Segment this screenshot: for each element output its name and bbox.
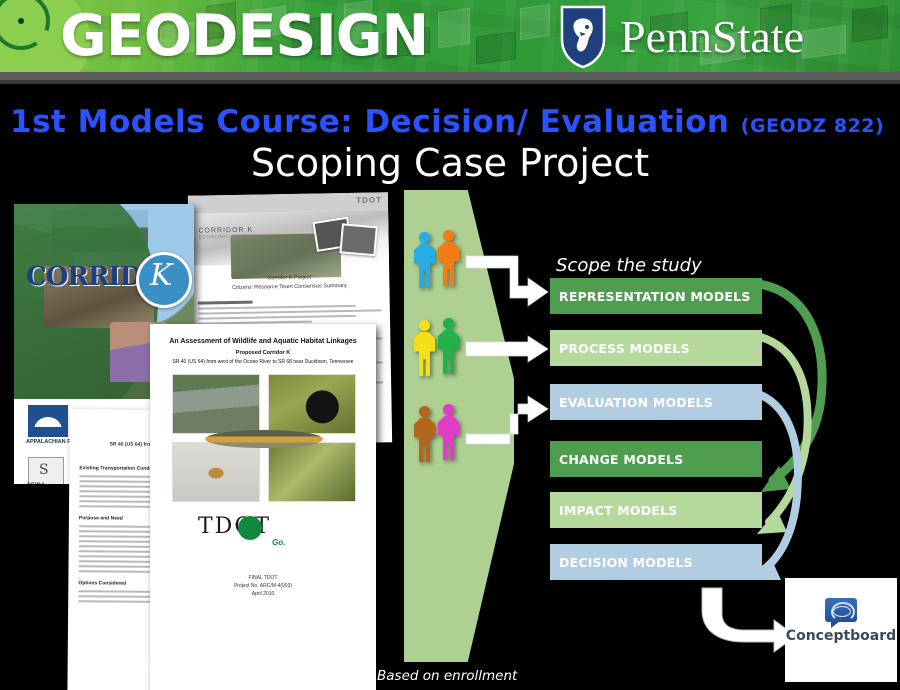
model-bar-representation-label: REPRESENTATION MODELS: [550, 289, 751, 304]
black-bear-photo: [268, 374, 356, 434]
model-bar-impact[interactable]: IMPACT MODELS: [550, 492, 762, 528]
photo-thumbnail-icon: [339, 223, 377, 256]
geodesign-wordmark: GEODESIGN: [60, 2, 428, 70]
model-bar-representation[interactable]: REPRESENTATION MODELS: [550, 278, 762, 314]
header-banner: GEODESIGN PennState: [0, 0, 900, 72]
participant-group-1: [414, 232, 472, 292]
participant-group-3: [414, 404, 472, 464]
document-wildlife-assessment[interactable]: An Assessment of Wildlife and Aquatic Ha…: [150, 324, 376, 690]
doc-wildlife-footer-line3: April 2010: [150, 590, 376, 598]
person-icon-blue: [414, 232, 435, 288]
model-bar-process[interactable]: PROCESS MODELS: [550, 330, 762, 366]
document-stack: TDOT CORRIDOR K ECONOMIC SECTION Corrido…: [0, 186, 400, 656]
person-icon-green: [438, 318, 459, 374]
caption-based-on-enrollment: Based on enrollment: [377, 668, 517, 684]
tdot-logo-tagline: Go.: [272, 538, 285, 547]
connector-arrow-group1-to-representation: [466, 250, 556, 310]
penn-state-logo: PennState: [560, 2, 804, 72]
feedback-arrow-group: [735, 270, 845, 590]
seida-logo-label: SEIDA: [27, 483, 45, 484]
person-icon-brown: [414, 406, 435, 462]
page-title-line2: Scoping Case Project: [0, 140, 900, 186]
feedback-arrow-representation-to-change: [759, 284, 822, 492]
stream-habitat-photo: [268, 442, 356, 502]
connector-arrow-group2-to-process: [466, 336, 556, 366]
model-bar-evaluation-label: EVALUATION MODELS: [550, 395, 713, 410]
model-bar-change-label: CHANGE MODELS: [550, 452, 683, 467]
doc-summary-title: Corridor K Project Citizens' Resource Te…: [189, 272, 389, 293]
scope-the-study-label: Scope the study: [556, 255, 702, 276]
highway-photo: [172, 374, 260, 434]
model-bar-impact-label: IMPACT MODELS: [550, 503, 677, 518]
course-code-text: (GEODZ 822): [741, 115, 884, 137]
doc-cover-letter: K: [150, 258, 172, 293]
course-title-text: 1st Models Course: Decision/ Evaluation: [10, 104, 729, 140]
conceptboard-chat-bubble-icon: [825, 598, 857, 622]
doc-wildlife-photo-grid: [172, 374, 356, 502]
doc-summary-brand-sub: ECONOMIC SECTION: [199, 234, 258, 241]
participant-group-2: [414, 318, 472, 378]
penn-state-wordmark: PennState: [620, 13, 804, 61]
conceptboard-label: Conceptboard: [785, 628, 897, 644]
doc-wildlife-footer: FINAL TDOT Project No. ARC/M-4(003) Apri…: [150, 574, 376, 598]
slide-canvas: GEODESIGN PennState 1st Models Course: D…: [0, 0, 900, 690]
banner-divider: [0, 72, 900, 84]
conceptboard-card[interactable]: Conceptboard: [785, 578, 897, 682]
model-bar-evaluation[interactable]: EVALUATION MODELS: [550, 384, 762, 420]
person-icon-magenta: [438, 404, 459, 460]
model-bar-process-label: PROCESS MODELS: [550, 341, 690, 356]
doc-wildlife-footer-line2: Project No. ARC/M-4(003): [150, 582, 376, 590]
doc-wildlife-footer-line1: FINAL TDOT: [150, 574, 376, 582]
model-bar-change[interactable]: CHANGE MODELS: [550, 441, 762, 477]
trout-photo: [172, 442, 260, 502]
doc-wildlife-subtitle: Proposed Corridor K: [150, 350, 376, 356]
penn-state-lion-shield-icon: [560, 5, 606, 69]
caption-materials-courtesy: Materials courtesy of TDOT: [106, 660, 290, 676]
model-bar-decision-label: DECISION MODELS: [550, 555, 693, 570]
connector-arrow-group3-to-evaluation: [466, 388, 556, 448]
arc-logo-icon: [28, 405, 68, 437]
seida-logo-icon: [28, 457, 64, 484]
doc-wildlife-subtitle2: SR 40 (US 64) from west of the Ocoee Riv…: [150, 359, 376, 365]
doc-summary-org-label: TDOT: [356, 195, 382, 204]
doc-summary-brand: CORRIDOR K ECONOMIC SECTION: [198, 227, 257, 241]
doc-wildlife-title: An Assessment of Wildlife and Aquatic Ha…: [150, 338, 376, 345]
person-icon-yellow: [414, 320, 435, 376]
page-title-line1: 1st Models Course: Decision/ Evaluation …: [10, 104, 890, 144]
person-icon-orange: [438, 230, 459, 286]
tdot-logo: TDOT Go.: [198, 512, 328, 552]
tdot-arrow-circle-icon: [238, 516, 262, 540]
